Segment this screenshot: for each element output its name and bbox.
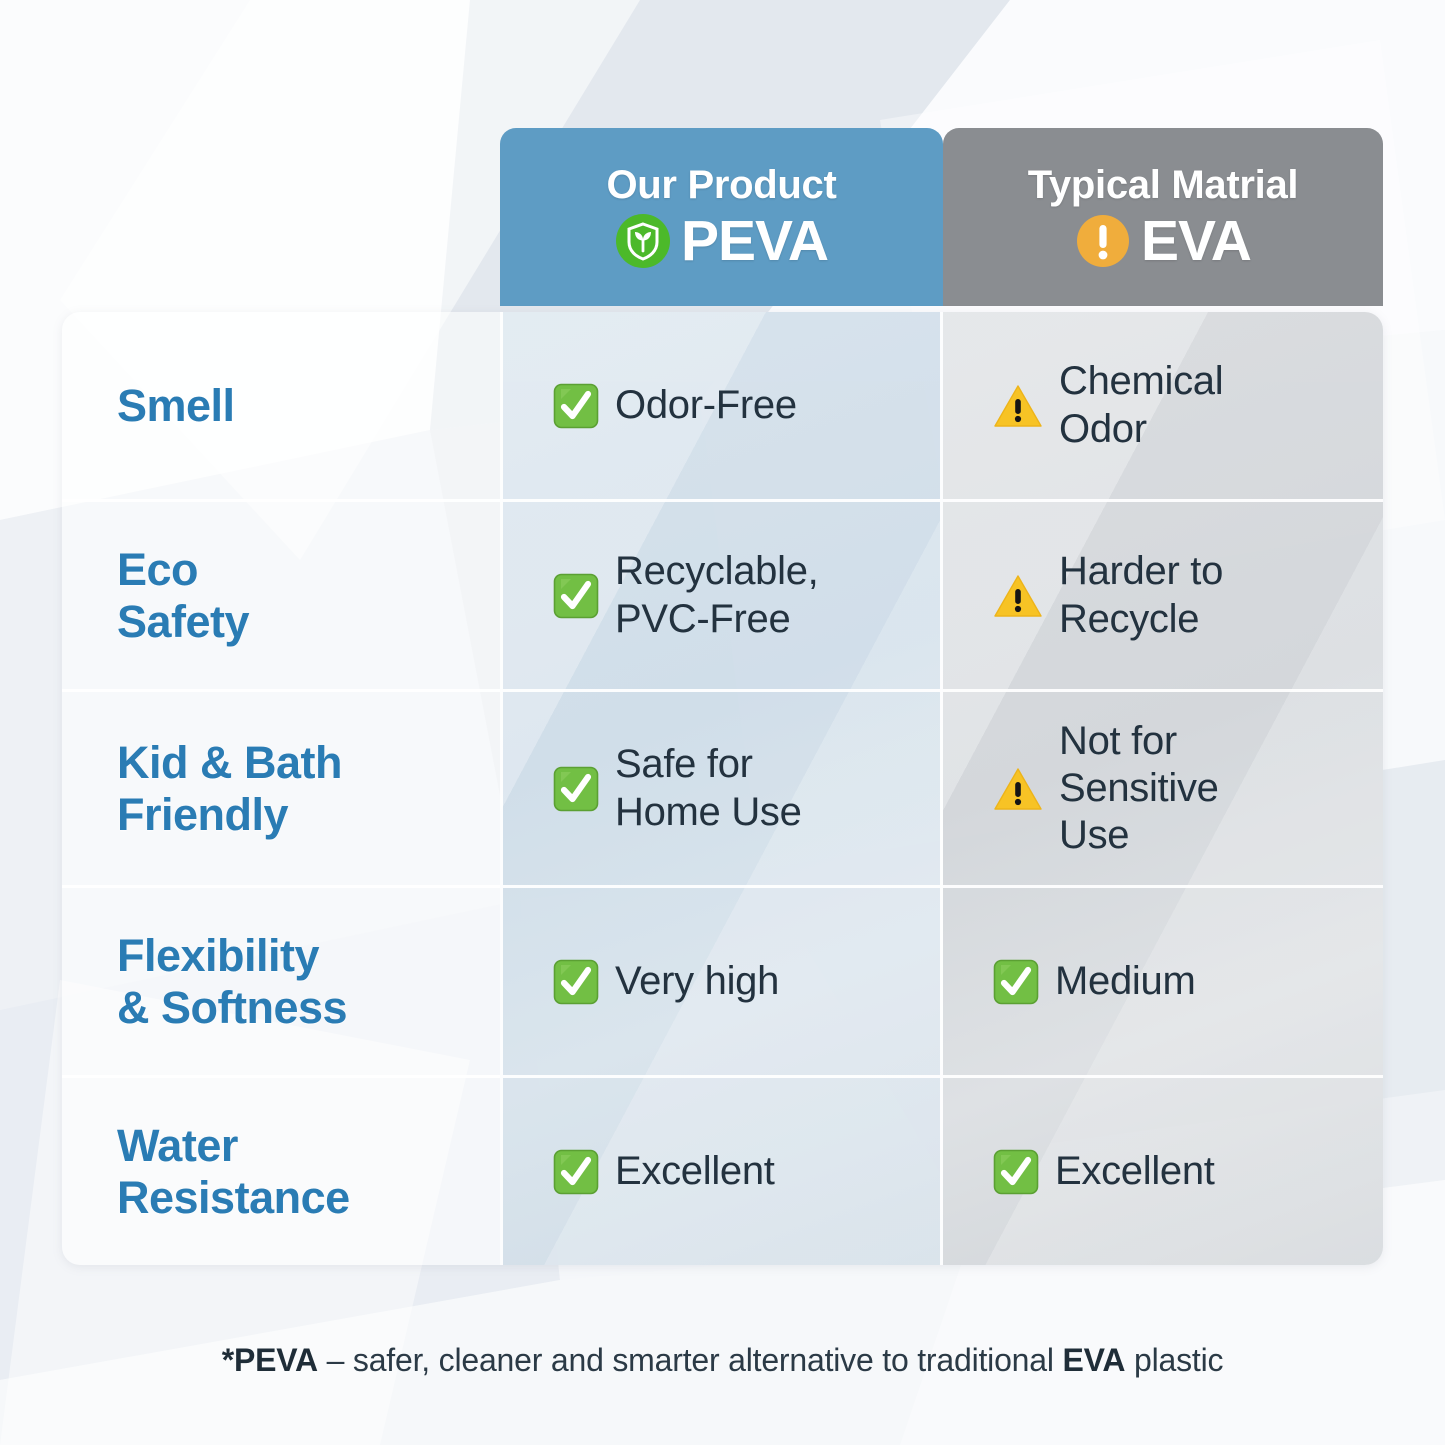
warning-triangle-icon bbox=[993, 766, 1043, 812]
table-row: WaterResistanceExcellentExcellent bbox=[62, 1078, 1383, 1265]
value-text: Harder toRecycle bbox=[1059, 548, 1223, 642]
footnote-tail: plastic bbox=[1125, 1342, 1223, 1378]
row-label: EcoSafety bbox=[117, 544, 249, 647]
value-group: Recyclable,PVC-Free bbox=[553, 548, 818, 642]
value-group: ChemicalOdor bbox=[993, 358, 1223, 452]
check-box-icon bbox=[993, 959, 1039, 1005]
value-group: Not forSensitiveUse bbox=[993, 718, 1219, 860]
footnote: *PEVA – safer, cleaner and smarter alter… bbox=[0, 1342, 1445, 1379]
row-label-cell: Smell bbox=[62, 312, 500, 499]
value-group: Excellent bbox=[553, 1148, 775, 1195]
header-card-typical-material: Typical Matrial EVA bbox=[943, 128, 1383, 306]
value-group: Safe forHome Use bbox=[553, 741, 802, 835]
table-row: Kid & BathFriendlySafe forHome UseNot fo… bbox=[62, 692, 1383, 888]
row-label-cell: Kid & BathFriendly bbox=[62, 692, 500, 885]
row-label: Kid & BathFriendly bbox=[117, 737, 342, 840]
cell-eva: Excellent bbox=[943, 1078, 1383, 1265]
value-text: Excellent bbox=[615, 1148, 775, 1195]
value-text: Recyclable,PVC-Free bbox=[615, 548, 818, 642]
check-box-icon bbox=[553, 1149, 599, 1195]
row-label-cell: EcoSafety bbox=[62, 502, 500, 689]
table-rows: SmellOdor-FreeChemicalOdorEcoSafetyRecyc… bbox=[62, 312, 1383, 1265]
value-group: Odor-Free bbox=[553, 382, 797, 429]
cell-eva: Medium bbox=[943, 888, 1383, 1075]
value-text: Very high bbox=[615, 958, 779, 1005]
value-group: Medium bbox=[993, 958, 1195, 1005]
cell-eva: Harder toRecycle bbox=[943, 502, 1383, 689]
check-box-icon bbox=[553, 383, 599, 429]
header-typical-material-top-label: Typical Matrial bbox=[1028, 165, 1298, 205]
value-text: Excellent bbox=[1055, 1148, 1215, 1195]
check-box-icon bbox=[553, 573, 599, 619]
value-text: Odor-Free bbox=[615, 382, 797, 429]
footnote-lead: *PEVA bbox=[222, 1342, 318, 1378]
cell-peva: Recyclable,PVC-Free bbox=[500, 502, 943, 689]
header-our-product-name-row: PEVA bbox=[615, 213, 828, 270]
row-label: Flexibility& Softness bbox=[117, 930, 347, 1033]
header-typical-material-name: EVA bbox=[1141, 213, 1251, 270]
header-our-product-name: PEVA bbox=[681, 213, 828, 270]
value-group: Very high bbox=[553, 958, 779, 1005]
shield-leaf-icon bbox=[615, 213, 671, 269]
check-box-icon bbox=[553, 766, 599, 812]
value-text: Medium bbox=[1055, 958, 1195, 1005]
row-label-cell: WaterResistance bbox=[62, 1078, 500, 1265]
table-row: SmellOdor-FreeChemicalOdor bbox=[62, 312, 1383, 502]
header-typical-material-name-row: EVA bbox=[1075, 213, 1251, 270]
header-card-our-product: Our Product PEVA bbox=[500, 128, 943, 306]
row-label: WaterResistance bbox=[117, 1120, 350, 1223]
exclamation-circle-icon bbox=[1075, 213, 1131, 269]
table-row: Flexibility& SoftnessVery highMedium bbox=[62, 888, 1383, 1078]
footnote-bold-term: EVA bbox=[1062, 1342, 1125, 1378]
cell-peva: Very high bbox=[500, 888, 943, 1075]
cell-peva: Excellent bbox=[500, 1078, 943, 1265]
cell-eva: ChemicalOdor bbox=[943, 312, 1383, 499]
cell-peva: Odor-Free bbox=[500, 312, 943, 499]
cell-peva: Safe forHome Use bbox=[500, 692, 943, 885]
row-label-cell: Flexibility& Softness bbox=[62, 888, 500, 1075]
footnote-middle: – safer, cleaner and smarter alternative… bbox=[318, 1342, 1063, 1378]
check-box-icon bbox=[553, 959, 599, 1005]
value-text: Not forSensitiveUse bbox=[1059, 718, 1219, 860]
warning-triangle-icon bbox=[993, 573, 1043, 619]
table-row: EcoSafetyRecyclable,PVC-FreeHarder toRec… bbox=[62, 502, 1383, 692]
row-label: Smell bbox=[117, 380, 235, 431]
value-group: Excellent bbox=[993, 1148, 1215, 1195]
value-group: Harder toRecycle bbox=[993, 548, 1223, 642]
comparison-table: SmellOdor-FreeChemicalOdorEcoSafetyRecyc… bbox=[62, 312, 1383, 1265]
header-our-product-top-label: Our Product bbox=[606, 165, 836, 205]
check-box-icon bbox=[993, 1149, 1039, 1195]
value-text: ChemicalOdor bbox=[1059, 358, 1223, 452]
cell-eva: Not forSensitiveUse bbox=[943, 692, 1383, 885]
value-text: Safe forHome Use bbox=[615, 741, 802, 835]
warning-triangle-icon bbox=[993, 383, 1043, 429]
